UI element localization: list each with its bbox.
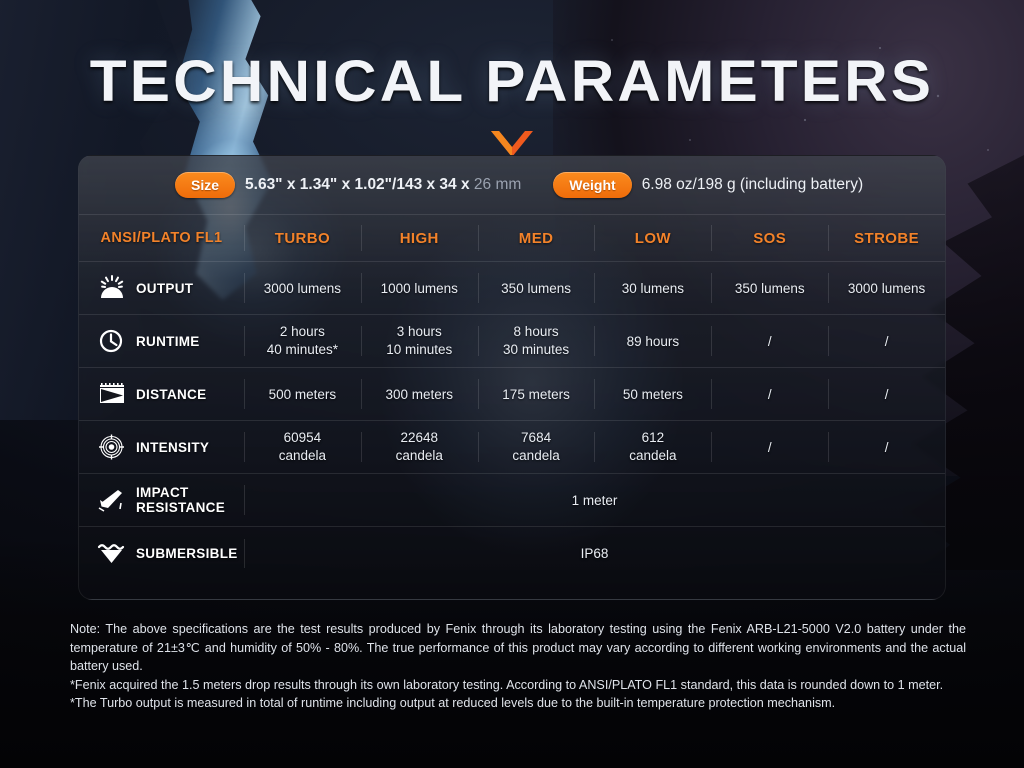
row-label-submersible: SUBMERSIBLE	[79, 527, 244, 580]
cell-output-med: 350 lumens	[478, 262, 595, 315]
header-high: HIGH	[361, 215, 478, 262]
size-pill: Size	[175, 172, 235, 198]
cell-output-turbo: 3000 lumens	[244, 262, 361, 315]
cell-intensity-low: 612 candela	[594, 421, 711, 474]
cell-runtime-high: 3 hours 10 minutes	[361, 315, 478, 368]
note-3: *The Turbo output is measured in total o…	[70, 694, 966, 713]
submersible-icon	[97, 540, 127, 566]
cell-intensity-high: 22648 candela	[361, 421, 478, 474]
cell-runtime-strobe: /	[828, 315, 945, 368]
row-label-text-output: OUTPUT	[136, 281, 193, 296]
specs-panel: Size 5.63" x 1.34" x 1.02"/143 x 34 x 26…	[78, 155, 946, 600]
row-label-output: OUTPUT	[79, 262, 244, 315]
table-row-distance: DISTANCE 500 meters 300 meters 175 meter…	[79, 368, 945, 421]
cell-intensity-sos: /	[711, 421, 828, 474]
cell-distance-turbo: 500 meters	[244, 368, 361, 421]
size-value: 5.63" x 1.34" x 1.02"/143 x 34 x 26 mm	[245, 176, 521, 194]
size-value-imperial: 5.63" x 1.34" x 1.02"/143 x 34 x	[245, 176, 474, 193]
row-label-text-impact-resistance: IMPACT RESISTANCE	[136, 485, 225, 515]
table-row-intensity: INTENSITY 60954 candela 22648 candela 76…	[79, 421, 945, 474]
target-icon	[97, 434, 127, 460]
cell-intensity-med: 7684 candela	[478, 421, 595, 474]
page-title: TECHNICAL PARAMETERS	[0, 48, 1024, 115]
cell-output-high: 1000 lumens	[361, 262, 478, 315]
clock-icon	[97, 328, 127, 354]
cell-output-low: 30 lumens	[594, 262, 711, 315]
cell-distance-low: 50 meters	[594, 368, 711, 421]
row-label-text-submersible: SUBMERSIBLE	[136, 546, 238, 561]
header-strobe: STROBE	[828, 215, 945, 262]
cell-runtime-turbo: 2 hours 40 minutes*	[244, 315, 361, 368]
cell-submersible-value: IP68	[244, 527, 945, 580]
row-label-text-intensity: INTENSITY	[136, 440, 209, 455]
row-label-impact-resistance: IMPACT RESISTANCE	[79, 474, 244, 527]
row-label-intensity: INTENSITY	[79, 421, 244, 474]
table-row-output: OUTPUT 3000 lumens 1000 lumens 350 lumen…	[79, 262, 945, 315]
cell-output-strobe: 3000 lumens	[828, 262, 945, 315]
row-label-text-distance: DISTANCE	[136, 387, 206, 402]
notes-block: Note: The above specifications are the t…	[70, 620, 966, 713]
sunburst-icon	[97, 275, 127, 301]
header-low: LOW	[594, 215, 711, 262]
table-row-submersible: SUBMERSIBLE IP68	[79, 527, 945, 580]
impact-arrow-icon	[97, 487, 127, 513]
size-value-metric: 26 mm	[474, 176, 521, 193]
note-1: Note: The above specifications are the t…	[70, 620, 966, 676]
note-2: *Fenix acquired the 1.5 meters drop resu…	[70, 676, 966, 695]
beam-distance-icon	[97, 381, 127, 407]
table-header-row: ANSI/PLATO FL1 TURBO HIGH MED LOW SOS ST…	[79, 215, 945, 262]
cell-runtime-med: 8 hours 30 minutes	[478, 315, 595, 368]
size-weight-strip: Size 5.63" x 1.34" x 1.02"/143 x 34 x 26…	[79, 156, 945, 214]
header-med: MED	[478, 215, 595, 262]
row-label-text-runtime: RUNTIME	[136, 334, 200, 349]
cell-runtime-sos: /	[711, 315, 828, 368]
cell-distance-sos: /	[711, 368, 828, 421]
title-block: TECHNICAL PARAMETERS	[0, 48, 1024, 159]
cell-impact-resistance-value: 1 meter	[244, 474, 945, 527]
cell-distance-high: 300 meters	[361, 368, 478, 421]
row-label-runtime: RUNTIME	[79, 315, 244, 368]
cell-distance-strobe: /	[828, 368, 945, 421]
header-ansi-plato-fl1: ANSI/PLATO FL1	[79, 215, 244, 262]
table-row-impact-resistance: IMPACT RESISTANCE 1 meter	[79, 474, 945, 527]
row-label-distance: DISTANCE	[79, 368, 244, 421]
cell-intensity-turbo: 60954 candela	[244, 421, 361, 474]
header-sos: SOS	[711, 215, 828, 262]
specs-table: ANSI/PLATO FL1 TURBO HIGH MED LOW SOS ST…	[79, 214, 945, 580]
weight-value: 6.98 oz/198 g (including battery)	[642, 176, 863, 194]
cell-intensity-strobe: /	[828, 421, 945, 474]
cell-runtime-low: 89 hours	[594, 315, 711, 368]
cell-output-sos: 350 lumens	[711, 262, 828, 315]
header-turbo: TURBO	[244, 215, 361, 262]
weight-pill: Weight	[553, 172, 631, 198]
cell-distance-med: 175 meters	[478, 368, 595, 421]
table-row-runtime: RUNTIME 2 hours 40 minutes* 3 hours 10 m…	[79, 315, 945, 368]
